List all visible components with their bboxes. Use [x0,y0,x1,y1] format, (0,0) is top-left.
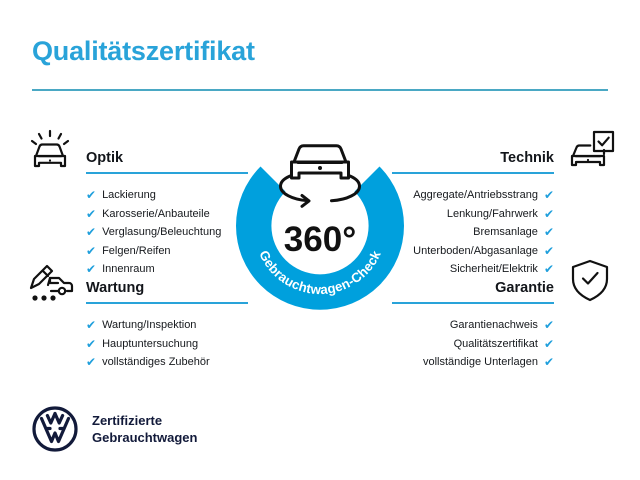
list-item: ✔Garantienachweis [396,316,616,335]
check-icon: ✔ [544,189,554,201]
section-technik-underline [392,172,554,174]
car-rotation-360-icon [281,146,360,207]
section-optik-header: Optik [24,128,244,176]
list-item: ✔Bremsanlage [396,223,616,242]
section-technik-header: Technik [396,128,616,176]
check-icon: ✔ [86,189,96,201]
section-optik: Optik ✔Lackierung ✔Karosserie/Anbauteile… [24,128,244,279]
section-garantie-title: Garantie [495,280,554,296]
list-item-label: Lackierung [102,186,156,205]
car-shine-icon [24,128,76,174]
volkswagen-logo-icon [32,406,78,452]
section-technik-title: Technik [500,150,554,166]
section-garantie-header: Garantie [396,258,616,306]
check-icon: ✔ [86,356,96,368]
service-pen-car-icon [24,258,76,304]
check-icon: ✔ [544,338,554,350]
list-item-label: Verglasung/Beleuchtung [102,223,221,242]
list-item-label: Bremsanlage [473,223,538,242]
list-item-label: Aggregate/Antriebsstrang [413,186,538,205]
list-item: ✔vollständiges Zubehör [24,353,244,372]
footer-text: Zertifizierte Gebrauchtwagen [92,412,197,446]
list-item: ✔vollständige Unterlagen [396,353,616,372]
list-item: ✔Lackierung [24,186,244,205]
shield-check-icon [564,258,616,304]
section-optik-underline [86,172,248,174]
list-item: ✔Aggregate/Antriebsstrang [396,186,616,205]
check-icon: ✔ [544,226,554,238]
section-wartung-list: ✔Wartung/Inspektion ✔Hauptuntersuchung ✔… [24,316,244,372]
check-icon: ✔ [86,226,96,238]
section-garantie: Garantie ✔Garantienachweis ✔Qualitätszer… [396,258,616,372]
list-item-label: vollständige Unterlagen [423,353,538,372]
check-icon: ✔ [86,208,96,220]
list-item: ✔Wartung/Inspektion [24,316,244,335]
check-icon: ✔ [544,319,554,331]
section-garantie-list: ✔Garantienachweis ✔Qualitätszertifikat ✔… [396,316,616,372]
list-item-label: vollständiges Zubehör [102,353,210,372]
section-wartung-header: Wartung [24,258,244,306]
check-icon: ✔ [86,338,96,350]
car-checkbox-icon [564,128,616,174]
list-item-label: Hauptuntersuchung [102,335,198,354]
check-icon: ✔ [544,245,554,257]
list-item-label: Wartung/Inspektion [102,316,196,335]
section-garantie-underline [392,302,554,304]
check-icon: ✔ [544,356,554,368]
title-divider [32,89,608,91]
list-item: ✔Lenkung/Fahrwerk [396,205,616,224]
list-item: ✔Verglasung/Beleuchtung [24,223,244,242]
badge-center-label: 360° [284,220,356,259]
check-icon: ✔ [86,245,96,257]
section-optik-title: Optik [86,150,123,166]
list-item: ✔Karosserie/Anbauteile [24,205,244,224]
list-item-label: Garantienachweis [450,316,538,335]
section-wartung: Wartung ✔Wartung/Inspektion ✔Hauptunters… [24,258,244,372]
footer-logo: Zertifizierte Gebrauchtwagen [32,406,197,452]
list-item-label: Karosserie/Anbauteile [102,205,210,224]
page-title: Qualitätszertifikat [32,36,255,67]
list-item: ✔Qualitätszertifikat [396,335,616,354]
check-icon: ✔ [86,319,96,331]
check-icon: ✔ [544,208,554,220]
section-wartung-underline [86,302,248,304]
list-item-label: Lenkung/Fahrwerk [447,205,538,224]
badge-360-gebrauchtwagen-check: 360° Gebrauchtwagen-Check [234,124,406,310]
section-technik: Technik ✔Aggregate/Antriebsstrang ✔Lenku… [396,128,616,279]
list-item-label: Qualitätszertifikat [454,335,538,354]
section-wartung-title: Wartung [86,280,144,296]
list-item: ✔Hauptuntersuchung [24,335,244,354]
